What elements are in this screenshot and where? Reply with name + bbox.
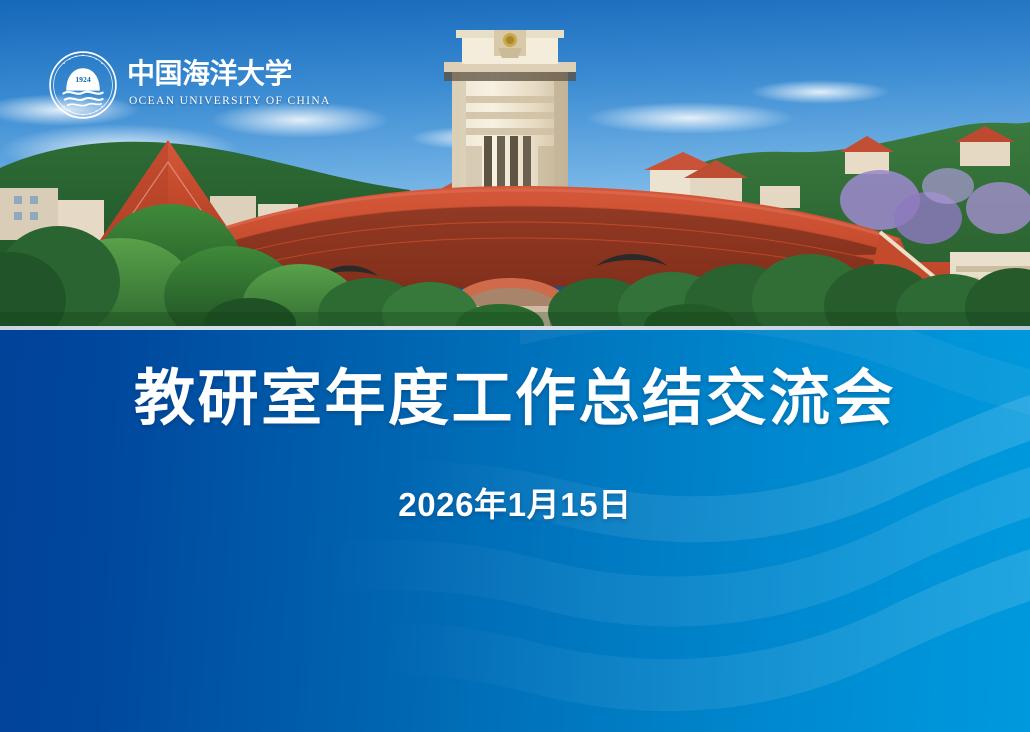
slide-date: 2026年1月15日 — [0, 478, 1030, 526]
logo-chinese-text: 中国海洋大学 — [127, 57, 291, 90]
photo-panel-divider — [0, 326, 1030, 330]
page-title: 教研室年度工作总结交流会 — [0, 366, 1030, 430]
logo-english-text: OCEAN UNIVERSITY OF CHINA — [127, 95, 331, 107]
university-logo: 1924 中国海洋大学 OCEAN UNIVERSITY OF C — [48, 50, 331, 120]
title-slide: 1924 中国海洋大学 OCEAN UNIVERSITY OF C — [0, 0, 1030, 732]
university-crest-icon: 1924 — [48, 50, 118, 120]
logo-chinese-wordmark: 中国海洋大学 — [127, 52, 291, 94]
crest-year-text: 1924 — [75, 75, 91, 84]
